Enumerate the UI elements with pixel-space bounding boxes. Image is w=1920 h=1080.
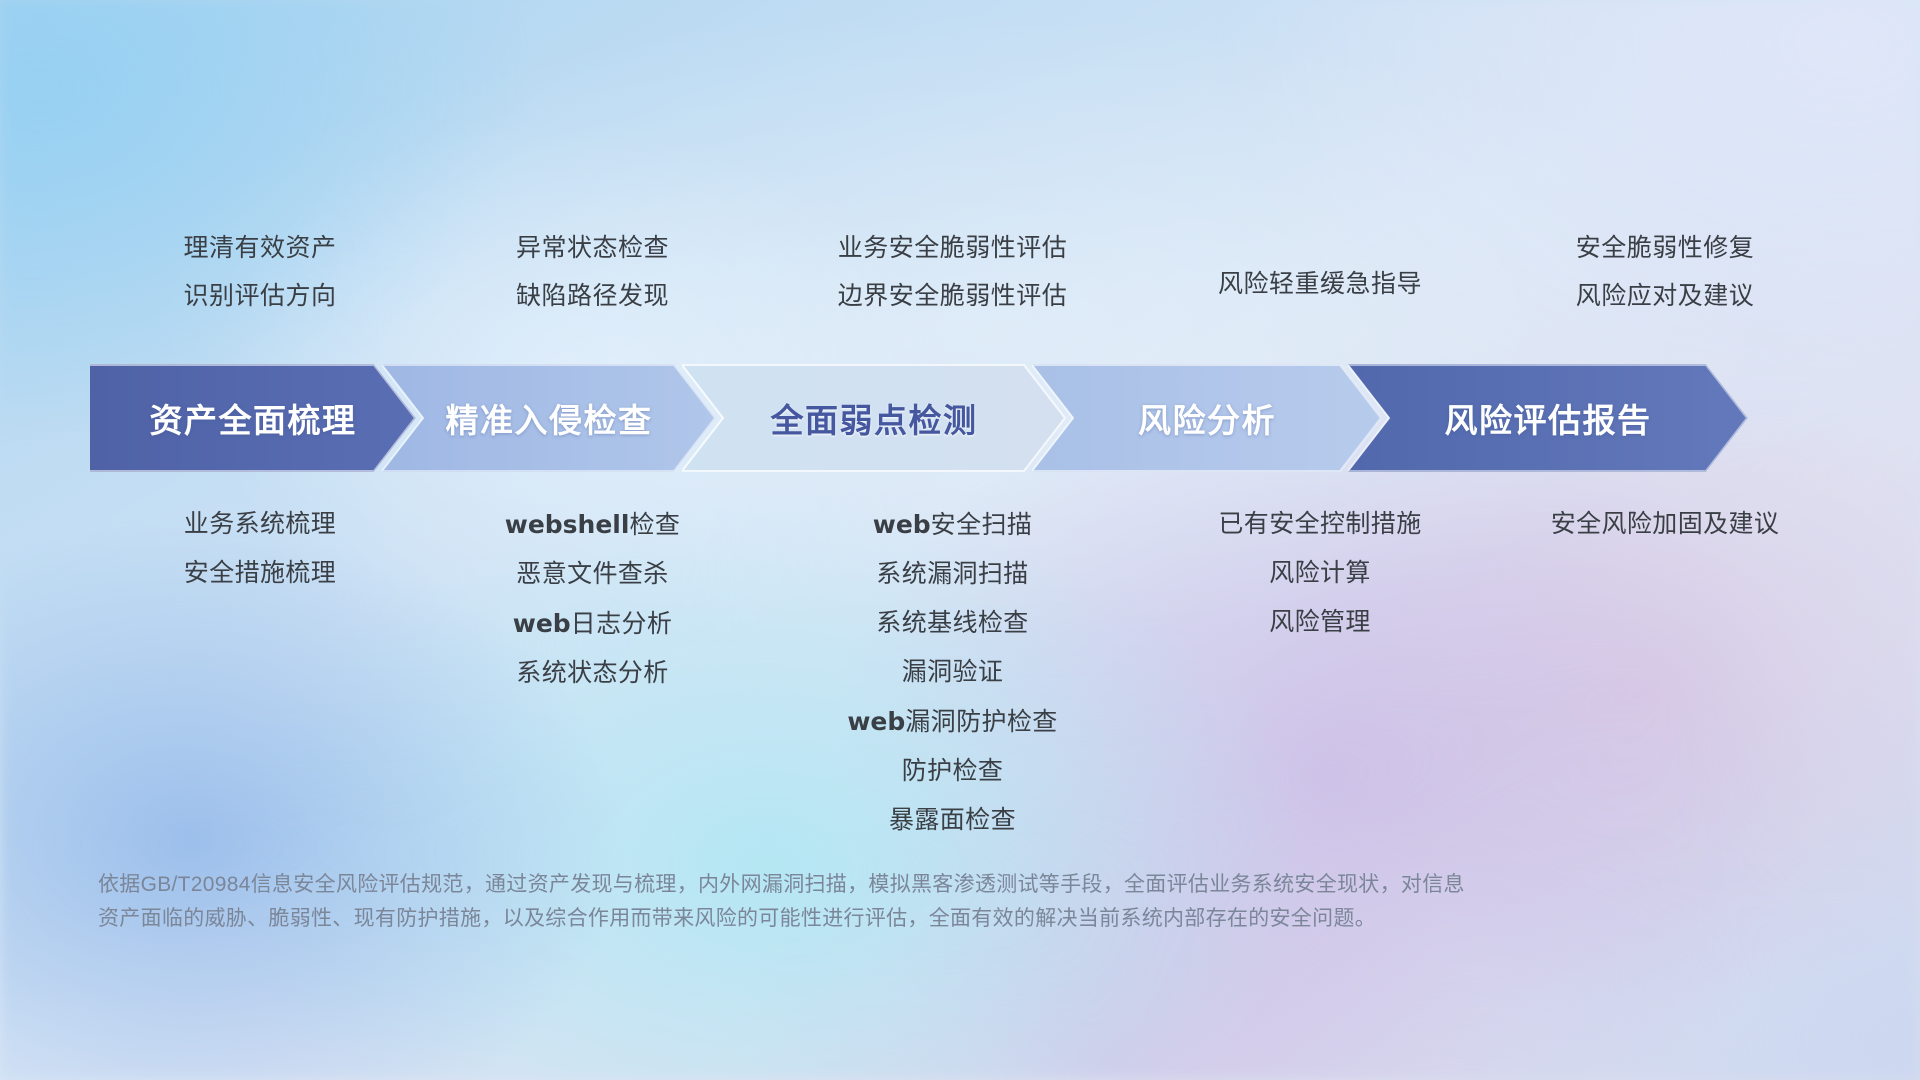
bottom-descriptor-item: 安全措施梳理	[184, 549, 336, 598]
process-step-arrow-2[interactable]: 精准入侵检查	[382, 364, 716, 472]
bottom-descriptor-row: 业务系统梳理 安全措施梳理 webshell检查 恶意文件查杀 web日志分析 …	[95, 500, 1835, 845]
process-arrow-band: 资产全面梳理 精准入侵检查	[90, 364, 1850, 472]
bottom-descriptor-item: 安全风险加固及建议	[1551, 500, 1780, 549]
bottom-descriptor-item: web日志分析	[513, 599, 673, 649]
top-descriptor-item: 风险轻重缓急指导	[1218, 260, 1422, 308]
bottom-descriptor-suffix: 漏洞防护检查	[905, 708, 1057, 736]
top-descriptor-item: 异常状态检查	[516, 224, 669, 272]
bottom-descriptor-item: web安全扫描	[873, 500, 1033, 550]
bottom-descriptor-item: 风险管理	[1269, 598, 1371, 647]
top-descriptor-item: 业务安全脆弱性评估	[838, 224, 1068, 272]
bottom-descriptor-item: 风险计算	[1269, 549, 1371, 598]
top-descriptor-item: 缺陷路径发现	[516, 272, 669, 320]
bottom-descriptor-item: 业务系统梳理	[184, 500, 336, 549]
bottom-descriptor-suffix: 日志分析	[571, 610, 673, 638]
process-step-label: 精准入侵检查	[446, 394, 653, 442]
bottom-descriptors-stage-5: 安全风险加固及建议	[1495, 500, 1835, 549]
bottom-descriptor-suffix: 检查	[629, 511, 680, 539]
top-descriptors-stage-2: 异常状态检查 缺陷路径发现	[425, 224, 760, 344]
process-step-label: 风险评估报告	[1445, 394, 1652, 442]
process-step-arrow-4[interactable]: 风险分析	[1032, 364, 1382, 472]
bottom-descriptor-item: 系统漏洞扫描	[876, 550, 1028, 599]
process-step-label: 风险分析	[1138, 394, 1276, 442]
top-descriptors-stage-3: 业务安全脆弱性评估 边界安全脆弱性评估	[760, 224, 1145, 344]
bottom-descriptor-item: 漏洞验证	[902, 648, 1004, 697]
process-step-label: 全面弱点检测	[771, 394, 978, 442]
bottom-descriptor-item: 防护检查	[902, 747, 1004, 796]
process-step-arrow-5[interactable]: 风险评估报告	[1348, 364, 1748, 472]
bottom-descriptors-stage-4: 已有安全控制措施 风险计算 风险管理	[1145, 500, 1495, 647]
bottom-descriptor-item: webshell检查	[505, 500, 681, 550]
bottom-descriptors-stage-1: 业务系统梳理 安全措施梳理	[95, 500, 425, 598]
top-descriptors-stage-1: 理清有效资产 识别评估方向	[95, 224, 425, 344]
footer-note-line: 资产面临的威胁、脆弱性、现有防护措施，以及综合作用而带来风险的可能性进行评估，全…	[98, 902, 1718, 936]
bottom-descriptor-suffix: 安全扫描	[931, 511, 1033, 539]
top-descriptors-stage-4: 风险轻重缓急指导	[1145, 224, 1495, 344]
top-descriptor-item: 风险应对及建议	[1576, 272, 1755, 320]
top-descriptor-item: 识别评估方向	[183, 272, 336, 320]
top-descriptor-item: 理清有效资产	[183, 224, 336, 272]
bottom-descriptors-stage-3: web安全扫描 系统漏洞扫描 系统基线检查 漏洞验证 web漏洞防护检查 防护检…	[760, 500, 1145, 845]
footer-note: 依据GB/T20984信息安全风险评估规范，通过资产发现与梳理，内外网漏洞扫描，…	[98, 868, 1718, 936]
bottom-descriptors-stage-2: webshell检查 恶意文件查杀 web日志分析 系统状态分析	[425, 500, 760, 698]
footer-note-line: 依据GB/T20984信息安全风险评估规范，通过资产发现与梳理，内外网漏洞扫描，…	[98, 868, 1718, 902]
slide-canvas: 理清有效资产 识别评估方向 异常状态检查 缺陷路径发现 业务安全脆弱性评估 边界…	[0, 0, 1920, 1080]
top-descriptor-item: 边界安全脆弱性评估	[838, 272, 1068, 320]
slide-content: 理清有效资产 识别评估方向 异常状态检查 缺陷路径发现 业务安全脆弱性评估 边界…	[0, 0, 1920, 1080]
bottom-descriptor-item: 系统基线检查	[876, 599, 1028, 648]
bottom-descriptor-item: 恶意文件查杀	[516, 550, 668, 599]
bottom-descriptor-item: 暴露面检查	[889, 796, 1016, 845]
top-descriptor-row: 理清有效资产 识别评估方向 异常状态检查 缺陷路径发现 业务安全脆弱性评估 边界…	[95, 224, 1835, 344]
top-descriptor-item: 安全脆弱性修复	[1576, 224, 1755, 272]
bottom-descriptor-item: 已有安全控制措施	[1218, 500, 1421, 549]
bottom-descriptor-item: web漏洞防护检查	[847, 697, 1057, 747]
process-step-label: 资产全面梳理	[150, 394, 357, 442]
top-descriptors-stage-5: 安全脆弱性修复 风险应对及建议	[1495, 224, 1835, 344]
bottom-descriptor-item: 系统状态分析	[516, 649, 668, 698]
process-step-arrow-1[interactable]: 资产全面梳理	[90, 364, 416, 472]
process-step-arrow-3[interactable]: 全面弱点检测	[682, 364, 1066, 472]
